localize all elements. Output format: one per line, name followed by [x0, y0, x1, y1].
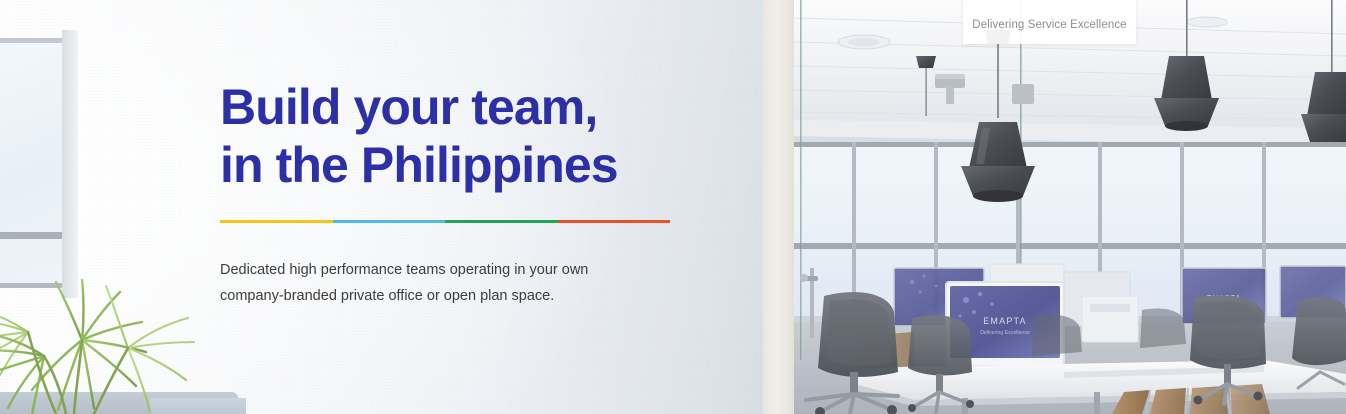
- divider-segment-green: [445, 220, 558, 223]
- service-excellence-tooltip: Delivering Service Excellence: [963, 0, 1136, 44]
- hero-left-panel: Build your team, in the Philippines Dedi…: [0, 0, 794, 414]
- areca-palm-plant: [0, 236, 210, 414]
- tooltip-label: Delivering Service Excellence: [972, 9, 1126, 31]
- divider-segment-blue: [333, 220, 446, 223]
- hero-subtext: Dedicated high performance teams operati…: [220, 257, 640, 309]
- page-title: Build your team, in the Philippines: [220, 78, 720, 194]
- wall-column: [763, 0, 794, 414]
- divider-segment-yellow: [220, 220, 333, 223]
- office-photo: EMAPTA Delivering Excellence EMAPTA: [794, 0, 1346, 414]
- hero-copy: Build your team, in the Philippines Dedi…: [220, 78, 720, 309]
- hero-banner: Build your team, in the Philippines Dedi…: [0, 0, 1346, 414]
- divider-segment-orange: [558, 220, 671, 223]
- color-divider: [220, 220, 670, 223]
